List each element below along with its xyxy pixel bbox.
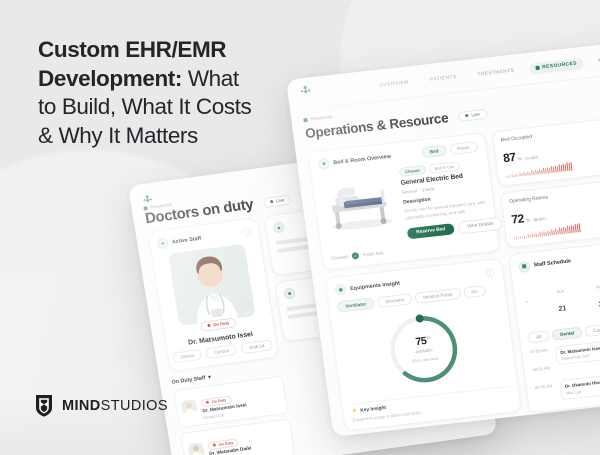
headline-line-2-rest: What — [182, 66, 239, 91]
list-item-badge-label: On Duty — [212, 398, 227, 404]
day-sun[interactable]: Sun 21 — [549, 276, 574, 321]
schedule-column-left: Dr. Matsumoto Issei Matsumoto Suit ● Dr.… — [555, 330, 600, 402]
bed-card-title: Bed & Room Overview — [333, 153, 391, 165]
on-duty-badge-label: On Duty — [213, 320, 230, 327]
bed-room-segmented-control[interactable]: Bed Room — [421, 141, 478, 158]
mind-studios-shield-icon — [34, 394, 54, 417]
chart-icon: ▲ — [273, 221, 285, 233]
live-dot-icon — [465, 114, 468, 117]
reserve-bed-button[interactable]: Reserve Bed — [407, 223, 455, 239]
chevron-down-icon[interactable]: ▾ — [208, 374, 212, 380]
page-title: Custom EHR/EMR Development: What to Buil… — [38, 36, 308, 150]
on-duty-dot-icon — [213, 443, 216, 446]
doctor-meta-0: Dental — [172, 349, 202, 364]
bed-tag-0: Chosen — [399, 165, 427, 177]
day-mon[interactable]: Mon 22 — [589, 272, 600, 317]
live-badge: Live — [458, 109, 488, 122]
time-slot-1: 08:00 AM — [532, 365, 554, 385]
on-duty-dot-icon — [206, 401, 209, 404]
tab-treatments[interactable]: TREATMENTS — [471, 64, 521, 80]
live-dot-icon — [270, 200, 273, 203]
stat-label: Operating Rooms — [509, 195, 549, 206]
bed-room-overview-card[interactable]: ■ Bed & Room Overview Bed Room — [308, 132, 501, 271]
bed-tag-1: Bed In Use — [428, 161, 461, 173]
list-icon: ■ — [283, 287, 295, 299]
view-details-button[interactable]: View Details — [457, 217, 503, 235]
on-duty-dot-icon — [207, 324, 210, 327]
stat-card-operating-rooms[interactable]: Operating Rooms ⋮ 72 % utilization — [500, 174, 600, 248]
key-insight-title: Key Insight — [360, 406, 386, 414]
bed-meta-0: General — [402, 188, 417, 195]
live-label: Live — [471, 112, 480, 118]
stat-value: 72 — [511, 211, 525, 226]
equipments-insight-card[interactable]: ◉ Equipments Insight ⋮ Ventilator Simula… — [325, 258, 522, 431]
gauge-unit: % — [426, 335, 430, 340]
headline-line-1: Custom EHR/EMR — [38, 37, 226, 62]
appointment-item[interactable]: Dr. Okamoto Hinata Mito Lab ● — [559, 364, 600, 400]
resources-icon — [535, 66, 540, 70]
prev-week-button[interactable]: ‹ — [523, 299, 531, 306]
brand-name-light: STUDIOS — [101, 398, 168, 414]
bulb-icon: ⚡ — [351, 409, 358, 415]
dept-tab-cardiology[interactable]: Cardiology — [584, 321, 600, 336]
bed-status-label: Cleaned — [331, 254, 349, 261]
stat-caption: occupied — [524, 154, 538, 160]
equipment-more-button[interactable]: ⋮ — [485, 268, 495, 278]
active-staff-title-row: ● Active Staff — [157, 233, 202, 250]
on-duty-badge: On Duty — [200, 317, 237, 332]
schedule-title-row: ▣ Staff Schedule — [518, 256, 572, 273]
dept-tab-dental[interactable]: Dental — [551, 326, 582, 340]
stat-unit: % — [526, 218, 530, 223]
doctor-meta-1: Central — [206, 344, 238, 359]
active-staff-card[interactable]: ● Active Staff ⋮ — [147, 217, 279, 372]
day-number: 21 — [558, 305, 567, 313]
bed-status-extra: Fresh bed — [363, 250, 384, 257]
stat-caption: utilization — [532, 216, 545, 222]
day-name: Sun — [556, 289, 564, 295]
segment-bed[interactable]: Bed — [421, 145, 447, 159]
equipment-tab-simulator[interactable]: Simulator — [377, 294, 414, 309]
avatar — [188, 442, 205, 455]
equipment-title-row: ◉ Equipments Insight — [335, 278, 401, 296]
equipment-availability-gauge: 75% available 20 in use now — [380, 307, 468, 393]
bed-meta-1: 3 Beds — [421, 186, 435, 192]
equipment-tab-infusion-pump[interactable]: Infusion Pump — [415, 288, 462, 304]
staff-icon: ● — [157, 237, 169, 249]
headline-line-2-bold: Development: — [38, 66, 182, 91]
avatar — [181, 399, 198, 416]
time-slot-2: 09:00 AM — [534, 382, 556, 402]
gauge-caption: available — [415, 348, 433, 355]
gauge-sub-caption: in use now — [418, 356, 439, 363]
day-name: Mon — [596, 284, 600, 290]
brand-name-bold: MIND — [62, 398, 101, 414]
breadcrumb-label: Resources — [310, 114, 332, 121]
equipment-tab-ventilator[interactable]: Ventilator — [337, 298, 375, 313]
dashboard-panel-operations-resource[interactable]: OVERVIEW PATIENTS TREATMENTS RESOURCES A… — [286, 36, 600, 437]
stat-unit: % — [518, 156, 522, 161]
tab-resources-label: RESOURCES — [542, 61, 577, 70]
tab-overview[interactable]: OVERVIEW — [373, 76, 416, 92]
key-insight-block: ⚡ Key Insight Equipment usage is within … — [350, 386, 512, 423]
active-staff-title: Active Staff — [172, 235, 202, 245]
schedule-time-axis: 07:00 AM 08:00 AM 09:00 AM — [530, 347, 557, 405]
equipment-tab-flo[interactable]: Flo — [463, 285, 487, 298]
tab-analytics[interactable]: ANALYTICS — [591, 52, 600, 68]
segment-room[interactable]: Room — [449, 141, 479, 155]
gauge-value-row: 75% — [415, 335, 431, 349]
stat-label: Bed Occupied — [500, 134, 532, 144]
check-icon: ✓ — [352, 252, 360, 260]
bed-icon: ■ — [318, 158, 330, 170]
brand-logo-text: MINDSTUDIOS — [62, 398, 168, 414]
bed-product-image — [320, 169, 399, 235]
tab-resources[interactable]: RESOURCES — [529, 57, 584, 74]
headline-line-3: to Build, What It Costs — [38, 94, 251, 119]
list-item-badge-label: On Duty — [218, 440, 233, 446]
live-label: Live — [276, 198, 285, 204]
headline-line-4: & Why It Matters — [38, 123, 198, 148]
calendar-icon: ▣ — [518, 260, 530, 272]
live-badge: Live — [263, 194, 292, 208]
gauge-sub-row: 20 in use now — [412, 356, 439, 365]
brand-logo[interactable]: MINDSTUDIOS — [34, 394, 168, 417]
active-staff-more-button[interactable]: ⋮ — [242, 227, 252, 237]
schedule-title: Staff Schedule — [533, 258, 571, 268]
dept-tab-all[interactable]: All — [527, 330, 549, 343]
equipment-title: Equipments Insight — [350, 280, 401, 292]
doctor-meta-2: Shift 04 — [241, 339, 274, 354]
equipment-icon: ◉ — [335, 284, 347, 296]
gauge-sub-value: 20 — [412, 358, 417, 363]
bed-card-title-row: ■ Bed & Room Overview — [318, 151, 392, 170]
on-duty-list-title: On Duty Staff — [171, 375, 206, 385]
stat-value: 87 — [502, 150, 516, 165]
tab-patients[interactable]: PATIENTS — [423, 71, 463, 86]
time-slot-0: 07:00 AM — [530, 347, 552, 367]
